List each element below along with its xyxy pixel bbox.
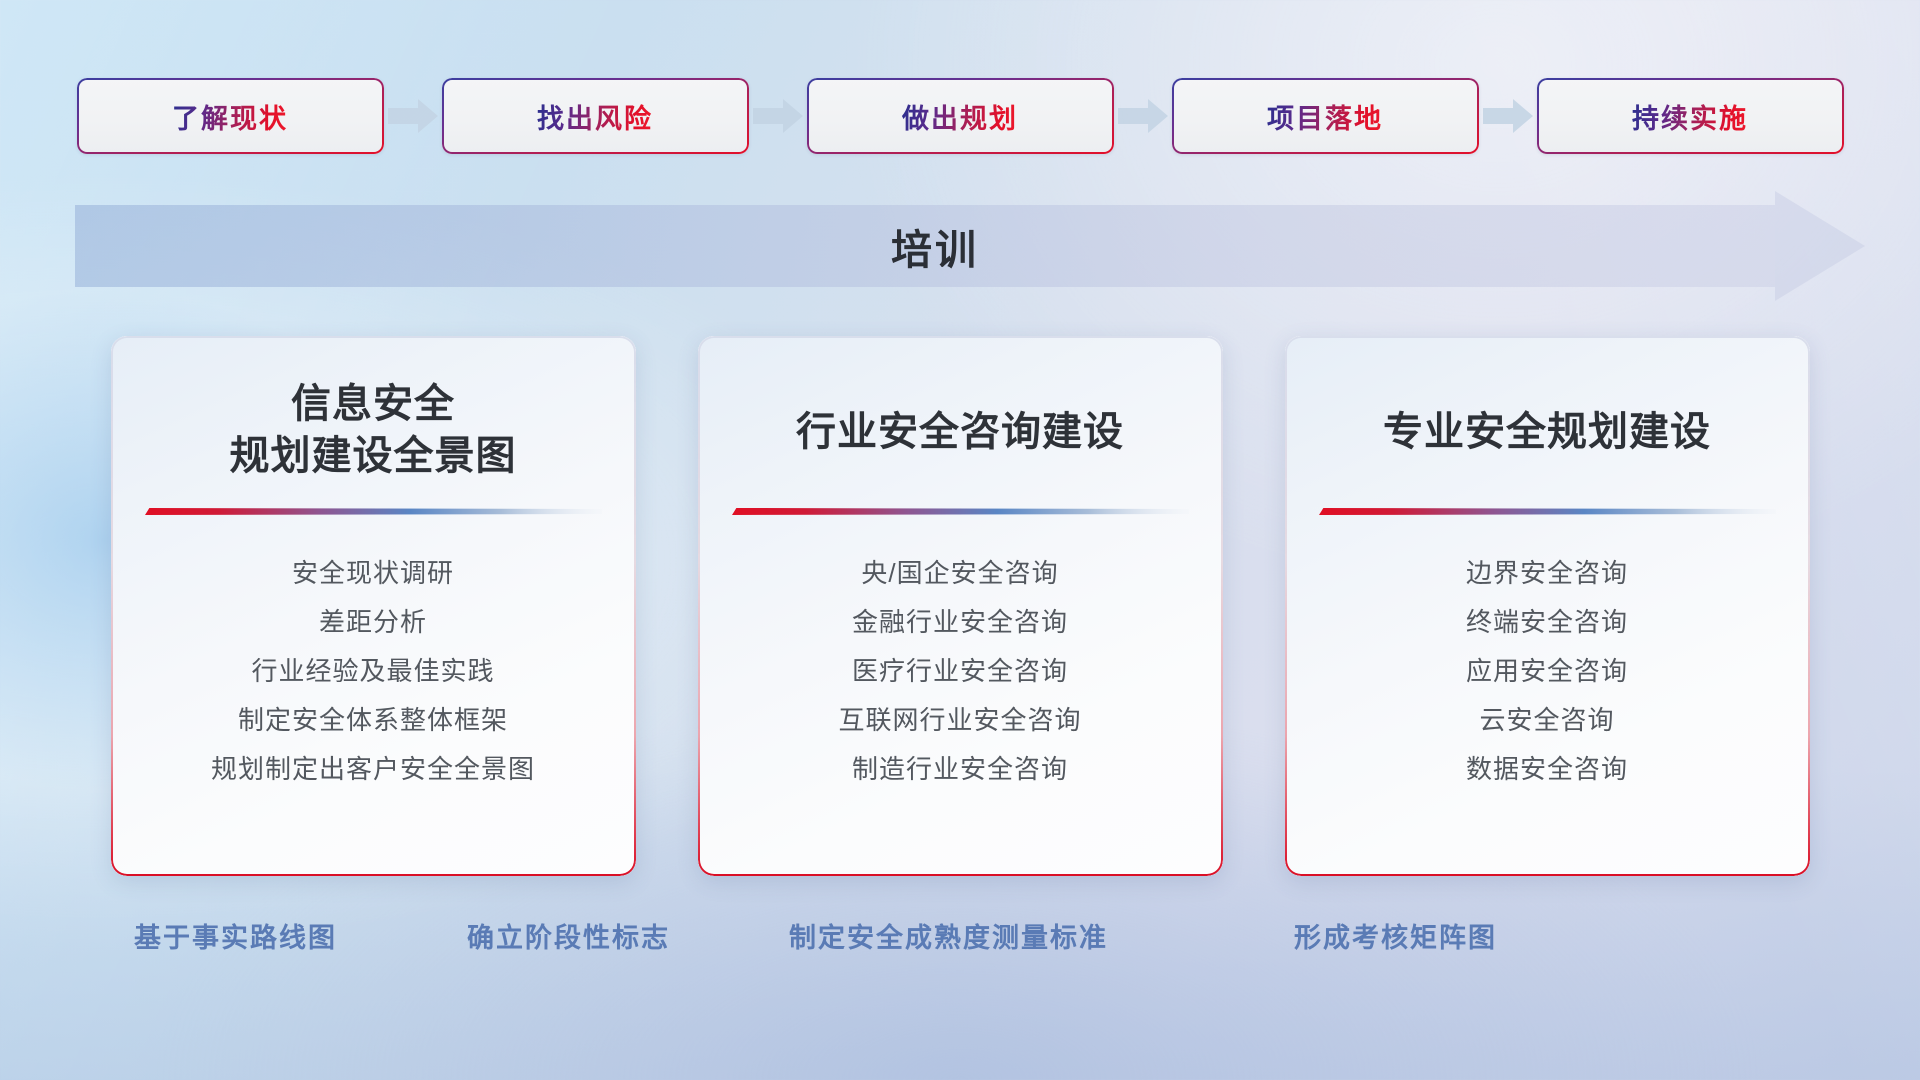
footnote-2: 确立阶段性标志 — [467, 916, 670, 955]
card-title-line: 规划建设全景图 — [230, 430, 517, 482]
step-box-3[interactable]: 做出规划 — [807, 78, 1114, 154]
list-item: 边界安全咨询 — [1319, 552, 1776, 594]
step-label-2: 找出风险 — [537, 97, 653, 136]
list-item: 金融行业安全咨询 — [732, 601, 1189, 643]
card-divider — [732, 504, 1189, 518]
footnote-4: 形成考核矩阵图 — [1294, 916, 1497, 955]
card-title-line: 行业安全咨询建设 — [796, 406, 1124, 458]
step-box-1[interactable]: 了解现状 — [77, 78, 384, 154]
list-item: 互联网行业安全咨询 — [732, 699, 1189, 741]
step-box-4[interactable]: 项目落地 — [1172, 78, 1479, 154]
list-item: 差距分析 — [145, 601, 602, 643]
list-item: 央/国企安全咨询 — [732, 552, 1189, 594]
cards-row: 信息安全 规划建设全景图 — [0, 336, 1920, 876]
card-item-list: 边界安全咨询 终端安全咨询 应用安全咨询 云安全咨询 数据安全咨询 — [1319, 552, 1776, 791]
step-label-5: 持续实施 — [1632, 97, 1748, 136]
list-item: 应用安全咨询 — [1319, 650, 1776, 692]
card-title-line: 专业安全规划建设 — [1383, 406, 1711, 458]
card-title: 专业安全规划建设 — [1319, 378, 1776, 486]
card-information-security-blueprint[interactable]: 信息安全 规划建设全景图 — [111, 336, 636, 876]
step-label-3: 做出规划 — [902, 97, 1018, 136]
list-item: 行业经验及最佳实践 — [145, 650, 602, 692]
right-arrow-icon — [749, 98, 807, 134]
card-title-line: 信息安全 — [230, 378, 517, 430]
step-label-4: 项目落地 — [1267, 97, 1383, 136]
card-title: 行业安全咨询建设 — [732, 378, 1189, 486]
card-professional-security-planning[interactable]: 专业安全规划建设 — [1285, 336, 1810, 876]
process-steps-row: 了解现状 找出风险 做出规划 项目落地 持续实施 — [0, 78, 1920, 154]
card-title: 信息安全 规划建设全景图 — [145, 378, 602, 486]
right-arrow-icon — [1479, 98, 1537, 134]
footnote-row: 基于事实路线图 确立阶段性标志 制定安全成熟度测量标准 形成考核矩阵图 — [0, 916, 1920, 966]
list-item: 数据安全咨询 — [1319, 748, 1776, 790]
card-divider — [145, 504, 602, 518]
list-item: 安全现状调研 — [145, 552, 602, 594]
step-box-5[interactable]: 持续实施 — [1537, 78, 1844, 154]
right-arrow-icon — [384, 98, 442, 134]
card-item-list: 安全现状调研 差距分析 行业经验及最佳实践 制定安全体系整体框架 规划制定出客户… — [145, 552, 602, 791]
right-arrow-icon — [1114, 98, 1172, 134]
list-item: 规划制定出客户安全全景图 — [145, 748, 602, 790]
gradient-divider-icon — [732, 504, 1189, 518]
list-item: 制造行业安全咨询 — [732, 748, 1189, 790]
card-item-list: 央/国企安全咨询 金融行业安全咨询 医疗行业安全咨询 互联网行业安全咨询 制造行… — [732, 552, 1189, 791]
card-divider — [1319, 504, 1776, 518]
training-banner-title: 培训 — [75, 205, 1865, 287]
footnote-1: 基于事实路线图 — [134, 916, 337, 955]
step-box-2[interactable]: 找出风险 — [442, 78, 749, 154]
step-label-1: 了解现状 — [172, 97, 288, 136]
gradient-divider-icon — [145, 504, 602, 518]
list-item: 医疗行业安全咨询 — [732, 650, 1189, 692]
list-item: 云安全咨询 — [1319, 699, 1776, 741]
gradient-divider-icon — [1319, 504, 1776, 518]
training-banner: 培训 — [75, 205, 1865, 287]
footnote-3: 制定安全成熟度测量标准 — [789, 916, 1108, 955]
list-item: 制定安全体系整体框架 — [145, 699, 602, 741]
list-item: 终端安全咨询 — [1319, 601, 1776, 643]
card-industry-security-consulting[interactable]: 行业安全咨询建设 — [698, 336, 1223, 876]
